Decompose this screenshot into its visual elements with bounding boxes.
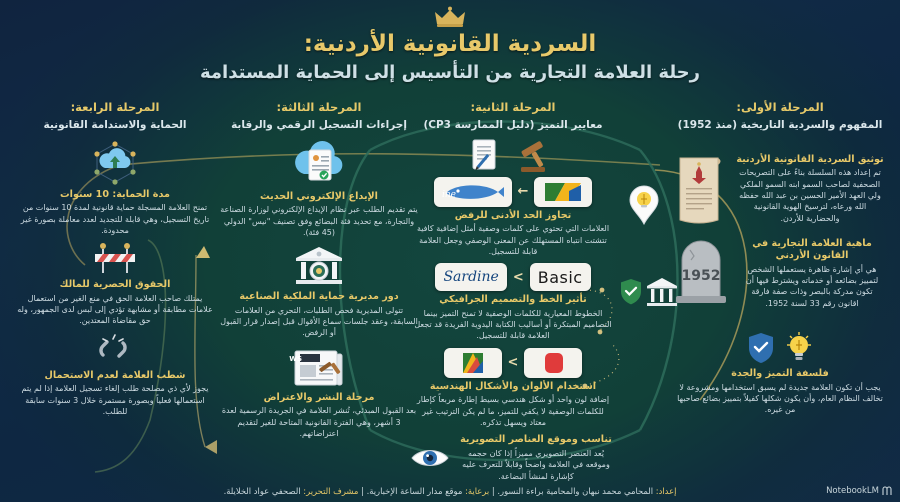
center-idea-marker <box>627 185 661 225</box>
comparison-arrow: > <box>508 355 519 370</box>
stage-3-column: المرحلة الثالثة: إجراءات التسجيل الرقمي … <box>216 100 422 445</box>
stage-2-block-2-text: الخطوط المعيارية للكلمات الوصفية لا تمنح… <box>414 308 612 342</box>
news-gavel-icon: NEWS <box>216 345 422 389</box>
notebooklm-brand: NotebookLM <box>826 486 892 496</box>
comparison-arrow: ← <box>518 184 529 199</box>
stage-2-block-1: ← Sardine تجاوز الحد الأدنى للرفض العلام… <box>410 177 616 258</box>
stage-4-header: المرحلة الرابعة: الحماية والاستدامة القا… <box>12 100 218 132</box>
stage-4-block-2: الحقوق الحصرية للمالك يمتلك صاحب العلامة… <box>12 242 218 327</box>
comparison-arrow: > <box>513 270 524 285</box>
colorful-shape-icon <box>444 348 502 378</box>
notebooklm-label: NotebookLM <box>826 486 879 496</box>
stage-3-block-3-text: بعد القبول المبدئي، تُنشر العلامة في الج… <box>220 405 418 439</box>
stage-4-block-3-title: شطب العلامة لعدم الاستحمال <box>16 370 214 382</box>
stage-1-block-3: فلسفة التميز والجدة يجب أن تكون العلامة … <box>672 331 888 416</box>
stage-1-subtitle: المفهوم والسردية التاريخية (منذ 1952) <box>672 118 888 132</box>
stage-3-block-2-title: دور مديرية حماية الملكية الصناعية <box>220 291 418 303</box>
footer-credits: إعداد: المحامي محمد نبهان والمحامية براء… <box>0 486 900 496</box>
crown-icon <box>0 6 900 28</box>
stage-4-block-3-text: يجوز لأي ذي مصلحة طلب إلغاء تسجيل العلام… <box>16 383 214 417</box>
stage-2-block-2-title: تأثير الخط والتصميم الجرافيكي <box>414 294 612 306</box>
stage-4-block-2-text: يمتلك صاحب العلامة الحق في منع الغير من … <box>16 293 214 327</box>
stage-4-subtitle: الحماية والاستدامة القانونية <box>12 118 218 132</box>
stage-3-block-3-title: مرحلة النشر والاعتراض <box>220 392 418 404</box>
stage-3-block-1-text: يتم تقديم الطلب عبر نظام الإيداع الإلكتر… <box>220 204 418 238</box>
government-building-icon <box>216 244 422 288</box>
red-square-icon <box>524 348 582 378</box>
mark-comparison-2: Basic > Sardine <box>410 263 616 291</box>
stage-2-block-4: تناسب وموقع العناصر التصويرية يُعد العنص… <box>410 434 616 482</box>
footer-editor-label: مشرف التحرير: <box>303 486 358 496</box>
stage-3-block-3: NEWS مرحلة النشر والاعتراض بعد القبول ال… <box>216 345 422 440</box>
footer-prepared-value: المحامي محمد نبهان والمحامية براءة النسو… <box>497 486 653 496</box>
svg-text:NEWS: NEWS <box>289 355 302 363</box>
stage-2-block-1-title: تجاوز الحد الأدنى للرفض <box>414 210 612 222</box>
footer-sep-2: | <box>361 486 364 496</box>
notebooklm-icon <box>882 486 892 496</box>
stage-4-title: المرحلة الرابعة: <box>12 100 218 116</box>
cloud-document-icon <box>216 138 422 188</box>
basic-text-chip: Basic <box>530 263 591 291</box>
stage-1-block-1-text: تم إعداد هذه السلسلة بناءً على التصريحات… <box>736 167 884 224</box>
stage-4-column: المرحلة الرابعة: الحماية والاستدامة القا… <box>12 100 218 423</box>
stage-1-block-3-title: فلسفة التميز والجدة <box>676 368 884 380</box>
stage-3-header: المرحلة الثالثة: إجراءات التسجيل الرقمي … <box>216 100 422 132</box>
footer-prepared-label: إعداد: <box>656 486 677 496</box>
gavel-document-icon <box>410 138 616 174</box>
stage-2-block-1-text: العلامات التي تحتوي على كلمات وصفية أمثل… <box>414 223 612 257</box>
stage-2-column: المرحلة الثانية: معايير التميز (دليل الم… <box>410 100 616 488</box>
footer-sponsor-value: موقع مدار الساعة الإخبارية. <box>367 486 463 496</box>
logo-colorful-icon <box>534 177 592 207</box>
stage-1-block-2-text: هي أي إشارة ظاهرة يستعملها الشخص لتمييز … <box>740 264 884 309</box>
stage-2-subtitle: معايير التميز (دليل الممارسة CP3) <box>410 118 616 132</box>
shield-check-icon <box>619 278 643 306</box>
government-building-icon <box>645 276 679 308</box>
footer-sponsor-label: برعاية: <box>465 486 489 496</box>
stage-2-block-3-text: إضافة لون واحد أو شكل هندسي بسيط إطارة م… <box>414 394 612 428</box>
eye-icon <box>410 445 450 471</box>
stage-3-block-1-title: الإيداع الإلكتروني الحديث <box>220 191 418 203</box>
infographic-canvas: السردية القانونية الأردنية: رحلة العلامة… <box>0 0 900 502</box>
stage-1-column: المرحلة الأولى: المفهوم والسردية التاريخ… <box>672 100 888 422</box>
header: السردية القانونية الأردنية: رحلة العلامة… <box>0 6 900 83</box>
stage-1-block-2: ماهية العلامة التجارية في القانون الأردن… <box>672 238 888 309</box>
stage-3-subtitle: إجراءات التسجيل الرقمي والرقابة <box>216 118 422 132</box>
stage-1-block-2-title: ماهية العلامة التجارية في القانون الأردن… <box>740 238 884 263</box>
barrier-gavel-icon <box>12 242 218 276</box>
stage-2-block-4-text: يُعد العنصر التصويري مميزاً إذا كان حجمه… <box>460 448 612 482</box>
tombstone-1952-icon: 1952 <box>672 238 730 304</box>
stage-2-header: المرحلة الثانية: معايير التميز (دليل الم… <box>410 100 616 132</box>
stage-2-block-2: Basic > Sardine تأثير الخط والتصميم الجر… <box>410 263 616 342</box>
stage-3-block-2-text: تتولى المديرية فحص الطلبات، التحري من ال… <box>220 305 418 339</box>
stage-4-block-1-title: مدة الحماية: 10 سنوات <box>16 189 214 201</box>
royal-scroll-icon <box>672 154 726 226</box>
stage-3-block-2: دور مديرية حماية الملكية الصناعية تتولى … <box>216 244 422 339</box>
stage-1-title: المرحلة الأولى: <box>672 100 888 116</box>
footer-sep-1: | <box>492 486 495 496</box>
cloud-upload-network-icon <box>12 138 218 186</box>
footer-editor-value: الصحفي عواد الخلايلة. <box>224 486 301 496</box>
page-title: السردية القانونية الأردنية: <box>0 31 900 57</box>
stage-4-block-2-title: الحقوق الحصرية للمالك <box>16 279 214 291</box>
stage-2-block-4-title: تناسب وموقع العناصر التصويرية <box>460 434 612 446</box>
sardine-logo-icon: Sardine <box>434 177 512 207</box>
stage-4-block-3: شطب العلامة لعدم الاستحمال يجوز لأي ذي م… <box>12 333 218 418</box>
broken-chain-icon <box>12 333 218 367</box>
sardine-script-chip: Sardine <box>435 263 506 291</box>
mark-comparison-3: > <box>410 348 616 378</box>
stage-1-block-3-text: يجب أن تكون العلامة جديدة لم يسبق استخدا… <box>676 382 884 416</box>
mark-comparison-1: ← Sardine <box>410 177 616 207</box>
svg-text:Sardine: Sardine <box>442 190 456 200</box>
stage-4-block-1-text: تمنح العلامة المسجلة حماية قانونية لمدة … <box>16 202 214 236</box>
stage-1-block-1: توثيق السردية القانونية الأردنية تم إعدا… <box>672 154 888 226</box>
page-subtitle: رحلة العلامة التجارية من التأسيس إلى الح… <box>0 62 900 83</box>
stage-2-block-3: > استخدام الألوان والأشكال الهندسية إضاف… <box>410 348 616 429</box>
stage-3-title: المرحلة الثالثة: <box>216 100 422 116</box>
stage-2-block-3-title: استخدام الألوان والأشكال الهندسية <box>414 381 612 393</box>
bulb-shield-icon <box>672 331 888 365</box>
svg-text:1952: 1952 <box>682 268 721 284</box>
institution-verified-marker <box>619 276 679 308</box>
stage-1-header: المرحلة الأولى: المفهوم والسردية التاريخ… <box>672 100 888 132</box>
stage-3-block-1: الإيداع الإلكتروني الحديث يتم تقديم الطل… <box>216 138 422 239</box>
stage-4-block-1: مدة الحماية: 10 سنوات تمنح العلامة المسج… <box>12 138 218 237</box>
stage-2-title: المرحلة الثانية: <box>410 100 616 116</box>
stage-1-block-1-title: توثيق السردية القانونية الأردنية <box>736 154 884 166</box>
